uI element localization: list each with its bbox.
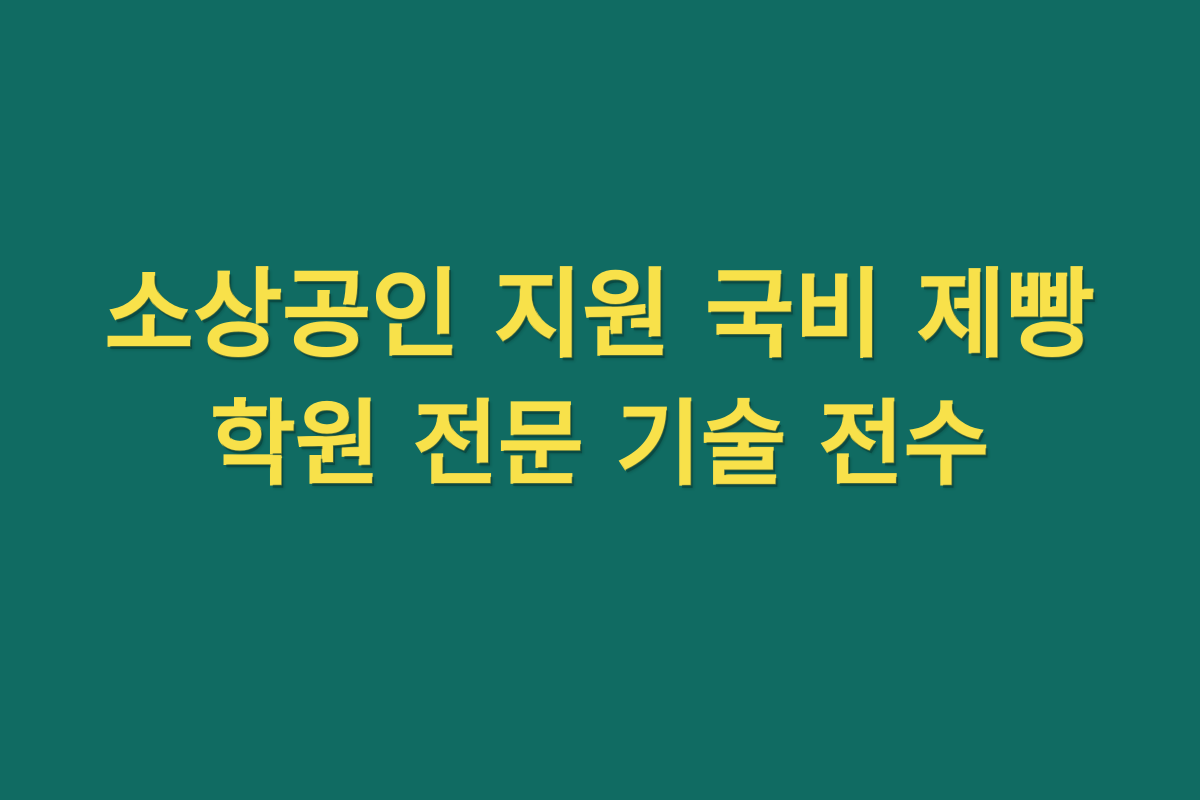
headline-text: 소상공인 지원 국비 제빵 학원 전문 기술 전수 <box>105 249 1095 508</box>
headline-line-2: 학원 전문 기술 전수 <box>105 382 1095 509</box>
banner-canvas: 소상공인 지원 국비 제빵 학원 전문 기술 전수 <box>0 0 1200 800</box>
headline-line-1: 소상공인 지원 국비 제빵 <box>105 249 1095 381</box>
